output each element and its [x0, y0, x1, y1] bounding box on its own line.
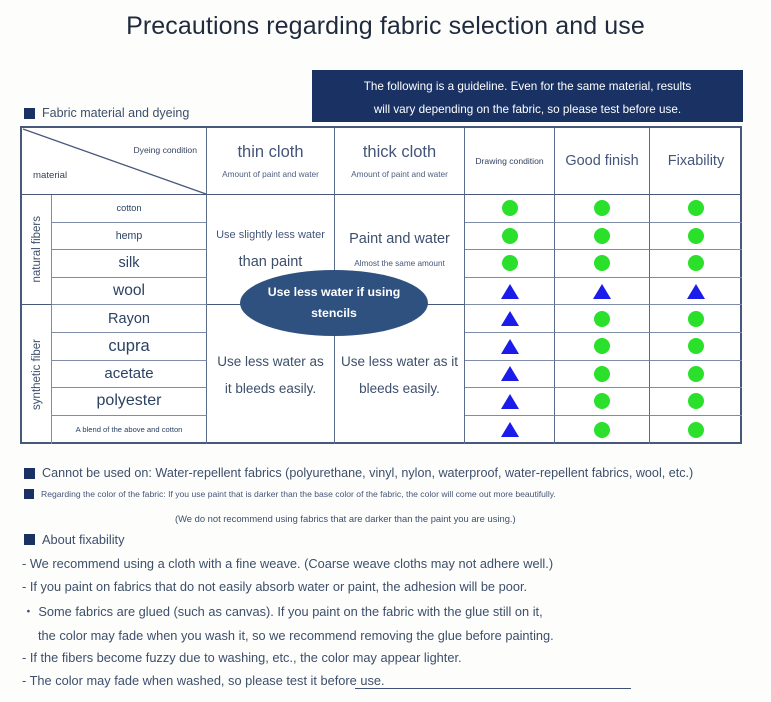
- diagonal-divider-icon: [22, 128, 207, 195]
- material-label-rayon: Rayon: [108, 311, 150, 327]
- good-finish-title: Good finish: [565, 153, 638, 169]
- stencil-callout-line1: Use less water if using: [268, 282, 401, 303]
- material-row-blend: A blend of the above and cotton: [52, 416, 207, 444]
- fabric-section-label-text: Fabric material and dyeing: [42, 106, 189, 120]
- green-circle-icon: [594, 366, 610, 382]
- symbol-cell-drawing-condition-row6: [465, 333, 555, 361]
- column-header-thin-cloth: thin cloth Amount of paint and water: [207, 128, 335, 195]
- material-label-hemp: hemp: [116, 230, 143, 242]
- green-circle-icon: [594, 422, 610, 438]
- merged-thick-synthetic-line2: bleeds easily.: [359, 375, 440, 402]
- green-circle-icon: [688, 200, 704, 216]
- material-label-wool: wool: [113, 282, 145, 300]
- column-header-good-finish: Good finish: [555, 128, 650, 195]
- list-item: - If the fibers become fuzzy due to wash…: [22, 650, 752, 665]
- symbol-cell-good-finish-row6: [555, 333, 650, 361]
- merged-thick-natural-line2: Almost the same amount: [354, 259, 445, 268]
- material-label-silk: silk: [119, 255, 140, 271]
- symbol-cell-fixability-row9: [650, 416, 742, 444]
- symbol-cell-good-finish-row2: [555, 223, 650, 251]
- green-circle-icon: [502, 228, 518, 244]
- square-bullet-icon: [24, 108, 35, 119]
- list-item: the color may fade when you wash it, so …: [22, 628, 752, 643]
- green-circle-icon: [688, 422, 704, 438]
- dyeing-condition-label: Dyeing condition: [133, 145, 197, 155]
- page-title: Precautions regarding fabric selection a…: [0, 12, 771, 41]
- symbol-cell-fixability-row1: [650, 195, 742, 223]
- symbol-cell-drawing-condition-row8: [465, 388, 555, 416]
- column-header-drawing-condition: Drawing condition: [465, 128, 555, 195]
- thick-cloth-title: thick cloth: [363, 143, 436, 162]
- material-row-polyester: polyester: [52, 388, 207, 416]
- note-fabric-color-text: Regarding the color of the fabric: If yo…: [41, 489, 556, 499]
- column-header-thick-cloth: thick cloth Amount of paint and water: [335, 128, 465, 195]
- blue-triangle-icon: [501, 422, 519, 437]
- table-corner-header: Dyeing condition material: [22, 128, 207, 195]
- material-row-wool: wool: [52, 278, 207, 306]
- green-circle-icon: [594, 228, 610, 244]
- green-circle-icon: [594, 311, 610, 327]
- green-circle-icon: [594, 200, 610, 216]
- category-synthetic-fiber-label: synthetic fiber: [31, 339, 43, 410]
- green-circle-icon: [594, 255, 610, 271]
- green-circle-icon: [688, 338, 704, 354]
- thick-cloth-subtitle: Amount of paint and water: [351, 169, 448, 179]
- merged-thin-natural-line1: Use slightly less water: [216, 229, 325, 241]
- material-label-blend: A blend of the above and cotton: [76, 425, 183, 434]
- blue-triangle-icon: [501, 311, 519, 326]
- material-row-cotton: cotton: [52, 195, 207, 223]
- green-circle-icon: [594, 338, 610, 354]
- column-header-fixability: Fixability: [650, 128, 742, 195]
- stencil-callout: Use less water if using stencils: [240, 270, 428, 336]
- symbol-cell-fixability-row5: [650, 305, 742, 333]
- symbol-cell-drawing-condition-row4: [465, 278, 555, 306]
- symbol-cell-drawing-condition-row2: [465, 223, 555, 251]
- square-bullet-icon: [24, 489, 34, 499]
- list-item: - If you paint on fabrics that do not ea…: [22, 579, 752, 594]
- symbol-cell-fixability-row4: [650, 278, 742, 306]
- material-label-cotton: cotton: [116, 203, 141, 213]
- blue-triangle-icon: [687, 284, 705, 299]
- symbol-cell-good-finish-row7: [555, 361, 650, 389]
- guideline-banner: The following is a guideline. Even for t…: [312, 70, 743, 122]
- guideline-line-1: The following is a guideline. Even for t…: [326, 76, 729, 99]
- blue-triangle-icon: [501, 339, 519, 354]
- drawing-condition-title: Drawing condition: [475, 156, 543, 166]
- list-item: - The color may fade when washed, so ple…: [22, 673, 752, 688]
- green-circle-icon: [688, 228, 704, 244]
- material-row-cupra: cupra: [52, 333, 207, 361]
- material-label-acetate: acetate: [104, 365, 153, 382]
- material-row-acetate: acetate: [52, 361, 207, 389]
- symbol-cell-drawing-condition-row9: [465, 416, 555, 444]
- merged-thin-natural-line2: than paint: [239, 254, 303, 270]
- blue-triangle-icon: [501, 366, 519, 381]
- fabric-section-label: Fabric material and dyeing: [24, 106, 189, 120]
- blue-triangle-icon: [501, 394, 519, 409]
- green-circle-icon: [594, 393, 610, 409]
- bottom-underline-decoration: [355, 688, 631, 689]
- symbol-cell-fixability-row7: [650, 361, 742, 389]
- material-row-hemp: hemp: [52, 223, 207, 251]
- blue-triangle-icon: [593, 284, 611, 299]
- symbol-cell-good-finish-row5: [555, 305, 650, 333]
- symbol-cell-drawing-condition-row7: [465, 361, 555, 389]
- thin-cloth-subtitle: Amount of paint and water: [222, 169, 319, 179]
- material-row-silk: silk: [52, 250, 207, 278]
- square-bullet-icon: [24, 534, 35, 545]
- fixability-title: Fixability: [668, 153, 724, 169]
- green-circle-icon: [688, 311, 704, 327]
- green-circle-icon: [688, 393, 704, 409]
- symbol-cell-drawing-condition-row3: [465, 250, 555, 278]
- merged-thick-natural-line1: Paint and water: [349, 231, 450, 247]
- note-cannot-be-used-text: Cannot be used on: Water-repellent fabri…: [42, 466, 693, 480]
- note-fabric-color-paren: (We do not recommend using fabrics that …: [175, 513, 516, 524]
- symbol-cell-good-finish-row1: [555, 195, 650, 223]
- symbol-cell-fixability-row6: [650, 333, 742, 361]
- merged-thick-synthetic-line1: Use less water as it: [341, 348, 458, 375]
- green-circle-icon: [502, 255, 518, 271]
- symbol-cell-fixability-row8: [650, 388, 742, 416]
- square-bullet-icon: [24, 468, 35, 479]
- symbol-cell-good-finish-row3: [555, 250, 650, 278]
- category-synthetic-fiber: synthetic fiber: [22, 305, 52, 444]
- symbol-cell-drawing-condition-row5: [465, 305, 555, 333]
- fixability-list: - We recommend using a cloth with a fine…: [22, 556, 752, 695]
- symbol-cell-drawing-condition-row1: [465, 195, 555, 223]
- material-row-rayon: Rayon: [52, 305, 207, 333]
- stencil-callout-line2: stencils: [311, 303, 357, 324]
- green-circle-icon: [688, 366, 704, 382]
- blue-triangle-icon: [501, 284, 519, 299]
- symbol-cell-good-finish-row8: [555, 388, 650, 416]
- symbol-cell-fixability-row2: [650, 223, 742, 251]
- about-fixability-label: About fixability: [24, 532, 125, 547]
- symbol-cell-good-finish-row9: [555, 416, 650, 444]
- material-label-cupra: cupra: [108, 337, 149, 356]
- thin-cloth-title: thin cloth: [237, 143, 303, 162]
- category-natural-fibers: natural fibers: [22, 195, 52, 305]
- guideline-line-2: will vary depending on the fabric, so pl…: [326, 99, 729, 122]
- merged-thin-synthetic-line2: it bleeds easily.: [225, 375, 316, 402]
- list-item: ・ Some fabrics are glued (such as canvas…: [22, 601, 752, 620]
- material-label-polyester: polyester: [97, 392, 162, 410]
- note-cannot-be-used: Cannot be used on: Water-repellent fabri…: [24, 466, 693, 480]
- list-item: - We recommend using a cloth with a fine…: [22, 556, 752, 571]
- material-label: material: [33, 170, 67, 181]
- category-natural-fibers-label: natural fibers: [31, 216, 43, 282]
- note-fabric-color: Regarding the color of the fabric: If yo…: [24, 489, 556, 499]
- green-circle-icon: [502, 200, 518, 216]
- symbol-cell-good-finish-row4: [555, 278, 650, 306]
- symbol-cell-fixability-row3: [650, 250, 742, 278]
- merged-thin-synthetic-line1: Use less water as: [217, 348, 324, 375]
- green-circle-icon: [688, 255, 704, 271]
- about-fixability-label-text: About fixability: [42, 532, 125, 547]
